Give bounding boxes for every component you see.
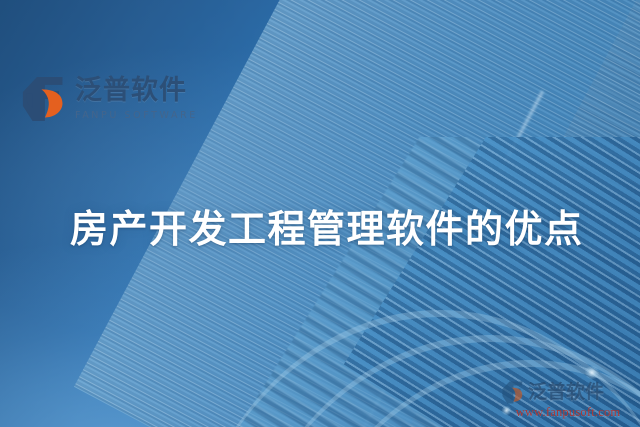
watermark-url: www.fanpusoft.com [502,405,634,420]
brand-text-block: 泛普软件 FANPU SOFTWARE [75,77,198,120]
fanpu-hexagon-sail-logo-icon [22,76,66,122]
promo-banner: 泛普软件 FANPU SOFTWARE 房产开发工程管理软件的优点 泛普软件 w… [0,0,640,427]
brand-logo: 泛普软件 FANPU SOFTWARE [22,76,198,122]
fanpu-watermark-logo-icon [502,381,524,404]
brand-name-cn: 泛普软件 [75,77,198,105]
watermark: 泛普软件 www.fanpusoft.com [502,381,634,420]
brand-name-en: FANPU SOFTWARE [75,110,198,121]
watermark-brand-name: 泛普软件 [528,383,604,402]
watermark-brand-row: 泛普软件 [502,381,634,404]
window-glint [584,366,600,379]
page-title: 房产开发工程管理软件的优点 [70,198,584,253]
